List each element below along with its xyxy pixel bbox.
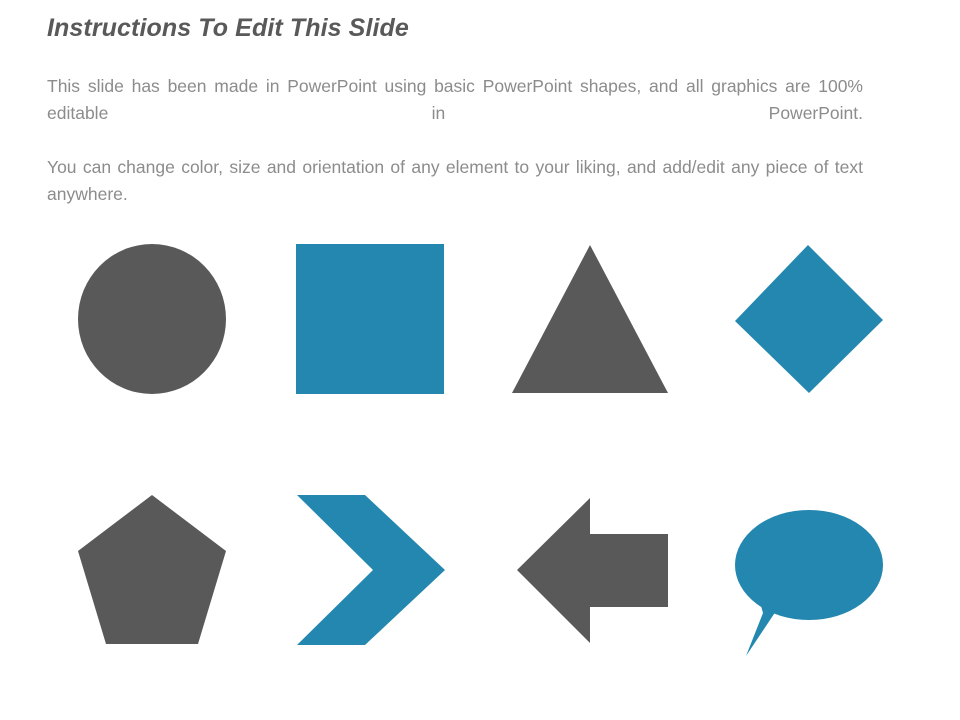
- left-arrow-shape[interactable]: [513, 493, 671, 647]
- shape-gallery: [0, 0, 960, 720]
- square-shape[interactable]: [295, 243, 445, 395]
- circle-shape[interactable]: [77, 243, 227, 395]
- slide-canvas: Instructions To Edit This Slide This sli…: [0, 0, 960, 720]
- speech-bubble-shape[interactable]: [733, 508, 887, 660]
- diamond-shape[interactable]: [733, 243, 885, 395]
- chevron-arrow-shape[interactable]: [295, 493, 447, 647]
- pentagon-shape[interactable]: [76, 493, 228, 647]
- triangle-shape[interactable]: [511, 243, 669, 395]
